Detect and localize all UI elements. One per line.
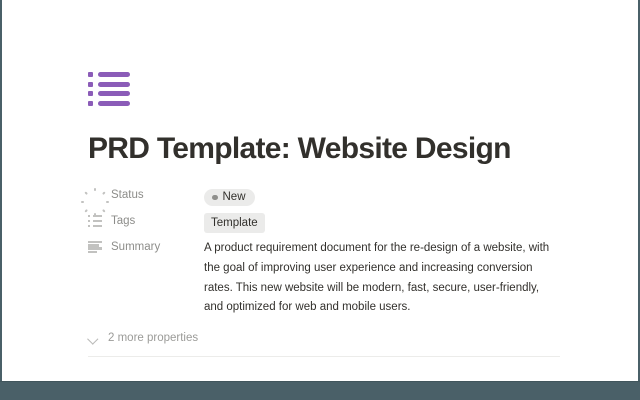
property-name: Tags <box>111 215 135 227</box>
tag-chip[interactable]: Template <box>204 213 265 233</box>
page-list-icon-bullet <box>88 72 93 77</box>
property-value-status[interactable]: New <box>204 186 560 206</box>
status-badge-label: New <box>223 192 246 204</box>
bottom-bar <box>0 382 640 400</box>
page-list-icon-bullet <box>88 82 93 87</box>
property-name: Status <box>111 189 144 201</box>
page-list-icon-bar <box>98 101 130 106</box>
page-list-icon-bullet <box>88 91 93 96</box>
page-list-icon[interactable] <box>88 72 130 106</box>
document-page: PRD Template: Website Design Status <box>88 0 560 400</box>
property-row-status[interactable]: Status New <box>88 184 560 210</box>
property-name: Summary <box>111 241 160 253</box>
page-list-icon-bar <box>98 72 130 77</box>
page-list-icon-row <box>88 101 130 106</box>
properties-table: Status New Tags Template <box>88 184 560 346</box>
summary-text: A product requirement document for the r… <box>204 239 560 318</box>
property-label-summary: Summary <box>88 238 204 254</box>
status-badge[interactable]: New <box>204 189 255 207</box>
property-label-status: Status <box>88 186 204 202</box>
left-edge-rail <box>0 0 2 400</box>
more-properties-toggle[interactable]: 2 more properties <box>88 330 560 346</box>
page-list-icon-row <box>88 82 130 87</box>
status-dot-icon <box>212 195 218 201</box>
page-list-icon-row <box>88 72 130 77</box>
spinner-icon <box>88 188 102 202</box>
page-list-icon-bar <box>98 91 130 96</box>
property-value-summary[interactable]: A product requirement document for the r… <box>204 238 560 318</box>
properties-divider <box>88 356 560 357</box>
page-list-icon-bar <box>98 82 130 87</box>
property-value-tags[interactable]: Template <box>204 212 560 233</box>
list-icon <box>88 214 102 228</box>
page-list-icon-bullet <box>88 101 93 106</box>
property-label-tags: Tags <box>88 212 204 228</box>
text-lines-icon <box>88 240 102 254</box>
property-row-tags[interactable]: Tags Template <box>88 210 560 236</box>
more-properties-label: 2 more properties <box>108 332 198 344</box>
page-title[interactable]: PRD Template: Website Design <box>88 132 560 165</box>
chevron-down-icon <box>88 332 100 344</box>
property-row-summary[interactable]: Summary A product requirement document f… <box>88 236 560 320</box>
page-list-icon-row <box>88 91 130 96</box>
